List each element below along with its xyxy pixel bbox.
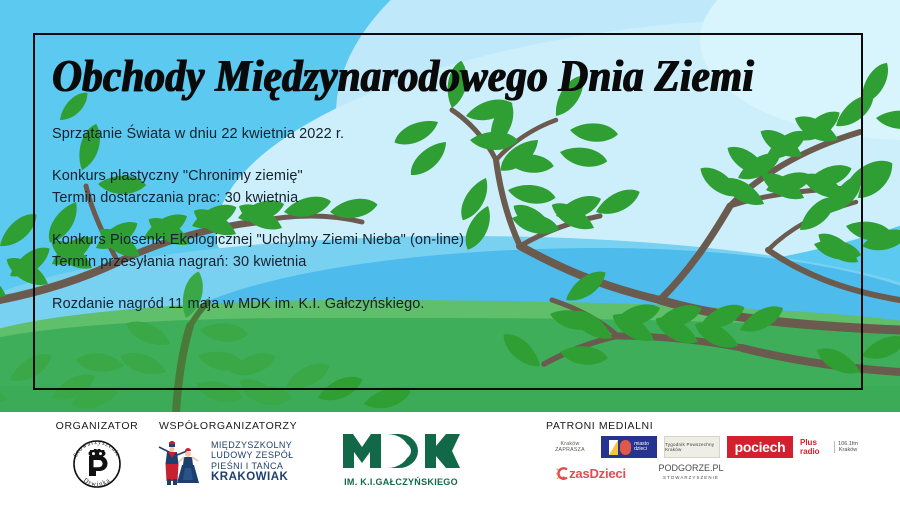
poster-content: Obchody Międzynarodowego Dnia Ziemi Sprz… — [52, 52, 852, 315]
page-title: Obchody Międzynarodowego Dnia Ziemi — [52, 52, 852, 100]
podgorze-line2: STOWARZYSZENIE — [663, 473, 719, 483]
mdk-logo-icon — [341, 432, 461, 470]
body-line: Sprzątanie Świata w dniu 22 kwietnia 202… — [52, 123, 852, 145]
footer-logos: ORGANIZATOR Stowarzyszenie Drwinka — [0, 412, 900, 506]
body-line: Konkurs Piosenki Ekologicznej "Uchylmy Z… — [52, 229, 852, 251]
czasdzieci-logo[interactable]: zasDzieci — [546, 462, 636, 484]
pociech-label: pociech — [735, 439, 786, 455]
krakowiak-text: MIĘDZYSZKOLNY LUDOWY ZESPÓŁ PIEŚNI I TAŃ… — [211, 440, 294, 483]
mdk-column: IM. K.I.GAŁCZYŃSKIEGO — [336, 432, 466, 487]
svg-text:Drwinka: Drwinka — [82, 477, 112, 488]
krakowiak-line3: PIEŚNI I TAŃCA — [211, 461, 294, 472]
krakowiak-line4: KRAKOWIAK — [211, 472, 294, 483]
drwinka-logo: Stowarzyszenie Drwinka — [69, 436, 125, 490]
body-spacer — [52, 273, 852, 293]
mdk-subtitle: IM. K.I.GAŁCZYŃSKIEGO — [336, 477, 466, 487]
czasdzieci-sun-icon — [556, 466, 569, 481]
miasto-dzieci-mark — [609, 440, 631, 455]
plus-radio-line1: Plus radio — [800, 438, 831, 456]
podgorze-pl-logo[interactable]: PODGORZE.PL STOWARZYSZENIE — [643, 462, 739, 484]
body-line: Rozdanie nagród 11 maja w MDK im. K.I. G… — [52, 293, 852, 315]
krakowiak-line1: MIĘDZYSZKOLNY — [211, 440, 294, 451]
krakowiak-logo: MIĘDZYSZKOLNY LUDOWY ZESPÓŁ PIEŚNI I TAŃ… — [155, 435, 315, 487]
poster-body: Sprzątanie Świata w dniu 22 kwietnia 202… — [52, 123, 852, 315]
body-line: Termin dostarczania prac: 30 kwietnia — [52, 187, 852, 209]
body-spacer — [52, 209, 852, 229]
plus-radio-logo[interactable]: Plus radio 106.1fm Kraków — [800, 436, 858, 458]
patroni-row-1: Kraków ZAPRASZA miasto dzieci Tygodnik P… — [546, 436, 886, 458]
czasdzieci-label: zasDzieci — [569, 466, 626, 481]
body-spacer — [52, 145, 852, 165]
patroni-medialni-column: PATRONI MEDIALNI Kraków ZAPRASZA miasto … — [546, 420, 886, 484]
krakowiak-line2: LUDOWY ZESPÓŁ — [211, 450, 294, 461]
patroni-heading: PATRONI MEDIALNI — [546, 420, 886, 432]
patroni-row-2: zasDzieci PODGORZE.PL STOWARZYSZENIE — [546, 462, 886, 484]
earth-day-poster: Obchody Międzynarodowego Dnia Ziemi Sprz… — [0, 0, 900, 506]
miasto-dzieci-line2: dzieci — [634, 447, 649, 453]
folk-dancers-icon — [155, 435, 207, 487]
wspolorganizatorzy-column: WSPÓŁORGANIZATORZY — [155, 420, 315, 487]
podgorze-line1: PODGORZE.PL — [658, 463, 723, 473]
tygodnik-powszechny-logo[interactable]: Tygodnik Powszechny Kraków — [664, 436, 720, 458]
miasto-dzieci-logo[interactable]: miasto dzieci — [601, 436, 657, 458]
krakow-zaprasza-line2: ZAPRASZA — [555, 447, 585, 453]
krakow-zaprasza-logo[interactable]: Kraków ZAPRASZA — [546, 436, 594, 458]
organizator-column: ORGANIZATOR Stowarzyszenie Drwinka — [42, 420, 152, 490]
wspolorganizatorzy-heading: WSPÓŁORGANIZATORZY — [155, 420, 315, 432]
plus-radio-line3: Kraków — [838, 447, 858, 453]
tygodnik-label: Tygodnik Powszechny Kraków — [665, 442, 719, 452]
pociech-logo[interactable]: pociech — [727, 436, 793, 458]
body-line: Konkurs plastyczny "Chronimy ziemię" — [52, 165, 852, 187]
body-line: Termin przesyłania nagrań: 30 kwietnia — [52, 251, 852, 273]
organizator-heading: ORGANIZATOR — [42, 420, 152, 432]
